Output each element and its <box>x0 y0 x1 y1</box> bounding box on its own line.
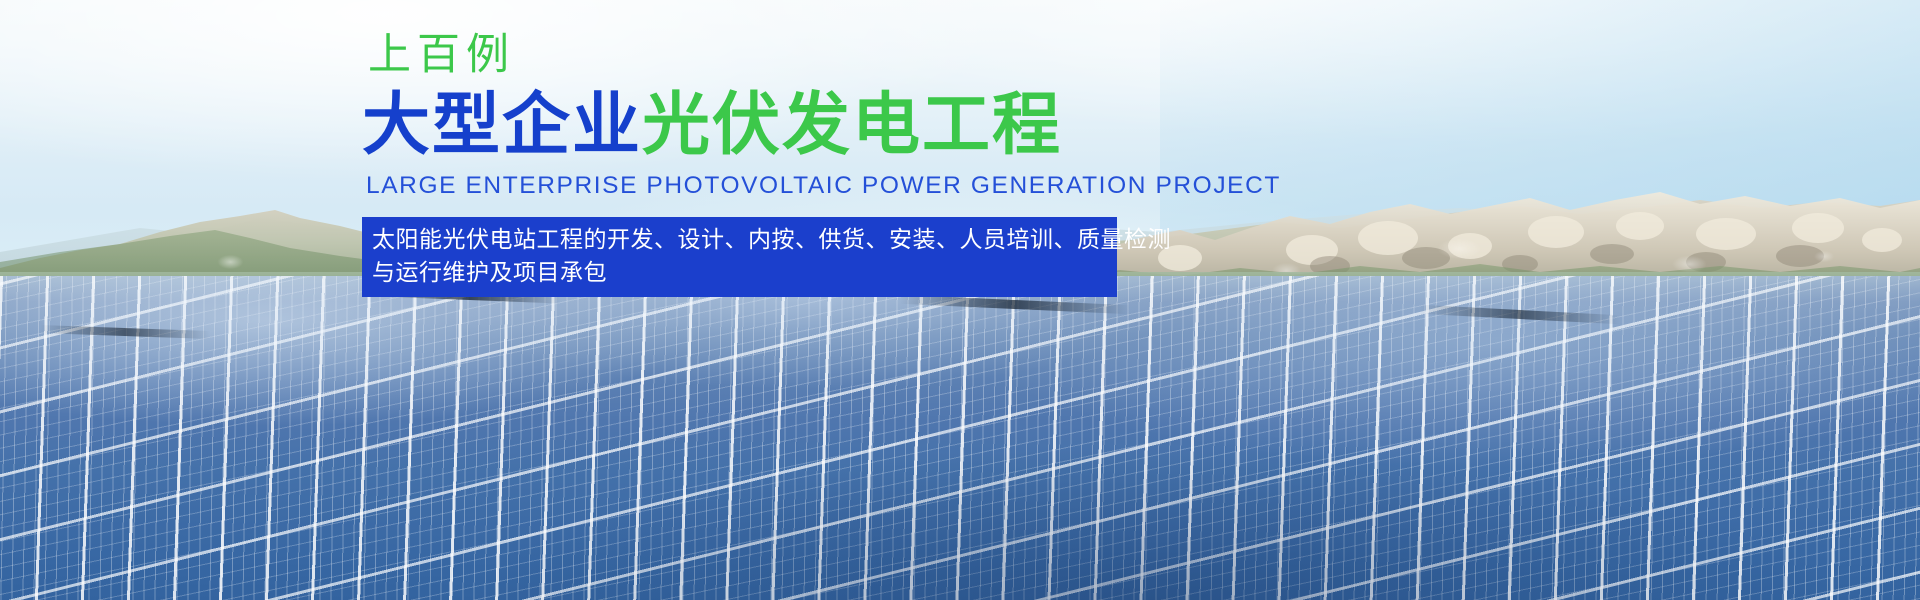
description-box: 太阳能光伏电站工程的开发、设计、内按、供货、安装、人员培训、质量检测 与运行维护… <box>362 217 1117 297</box>
description-line-2: 与运行维护及项目承包 <box>372 257 1107 290</box>
panel-shadow-streak <box>900 295 1130 314</box>
photovoltaic-project-banner: 上百例 大型企业光伏发电工程 LARGE ENTERPRISE PHOTOVOL… <box>0 0 1920 600</box>
panel-column-seams <box>0 276 1920 600</box>
panel-sun-sheen <box>0 276 1920 600</box>
subtitle-english: LARGE ENTERPRISE PHOTOVOLTAIC POWER GENE… <box>366 174 1122 199</box>
banner-text-block: 上百例 大型企业光伏发电工程 LARGE ENTERPRISE PHOTOVOL… <box>362 34 1122 297</box>
solar-panel-array <box>0 276 1920 600</box>
headline-part-green: 光伏发电工程 <box>642 86 1062 165</box>
panel-cell-grid <box>0 276 1920 600</box>
panel-shadow-streak <box>40 325 210 339</box>
page-title: 大型企业光伏发电工程 <box>362 91 1122 160</box>
panel-row-frames <box>0 276 1920 600</box>
headline-part-blue: 大型企业 <box>362 86 642 165</box>
description-line-1: 太阳能光伏电站工程的开发、设计、内按、供货、安装、人员培训、质量检测 <box>372 224 1107 257</box>
panel-shadow-streak <box>1420 305 1620 324</box>
eyebrow-text: 上百例 <box>368 34 1122 77</box>
